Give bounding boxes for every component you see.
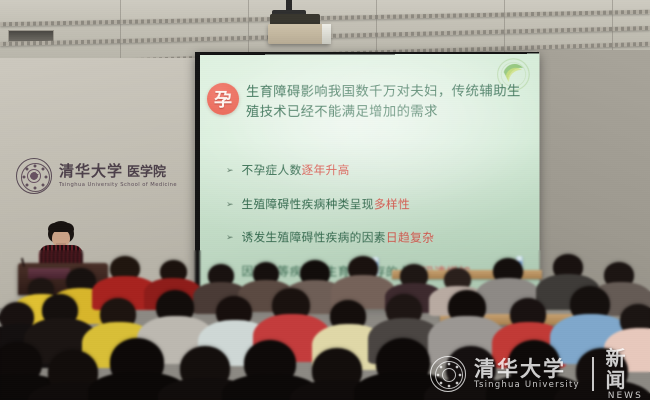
list-item: ➢ 不孕症人数逐年升高: [226, 163, 529, 178]
watermark-university: 清华大学 Tsinghua University: [474, 357, 580, 391]
projector-body: [268, 24, 330, 44]
news-watermark: 清华大学 Tsinghua University 新闻 NEWS: [430, 352, 645, 396]
watermark-divider: [592, 357, 594, 391]
watermark-news: 新闻 NEWS: [606, 347, 645, 400]
list-item: ➢ 生殖障碍性疾病种类呈现多样性: [226, 197, 529, 212]
pregnancy-badge-icon: 孕: [207, 83, 239, 115]
bullet-lead: 不孕症人数: [242, 163, 302, 177]
presenter-fringe: [48, 223, 74, 232]
watermark-en: Tsinghua University: [474, 380, 580, 391]
bullet-highlight: 逐年升高: [302, 163, 350, 177]
bullet-text: 不孕症人数逐年升高: [242, 163, 350, 178]
bullet-text: 生殖障碍性疾病种类呈现多样性: [242, 197, 410, 212]
list-item: ➢ 诱发生殖障碍性疾病的因素日趋复杂: [226, 230, 529, 246]
wall-logo-cn-dept: 医学院: [127, 165, 166, 180]
wall-logo-text: 清华大学医学院 Tsinghua University School of Me…: [59, 163, 177, 189]
bullet-lead: 生殖障碍性疾病种类呈现: [242, 197, 374, 211]
tsinghua-emblem-icon: ★: [16, 158, 52, 194]
slide-title-row: 孕 生育障碍影响我国数千万对夫妇，传统辅助生殖技术已经不能满足增加的需求: [207, 82, 528, 123]
emblem-ticks: [17, 159, 53, 195]
bullet-arrow-icon: ➢: [226, 167, 234, 176]
bullet-arrow-icon: ➢: [226, 234, 234, 243]
lecture-hall-photo: ★ 清华大学医学院 Tsinghua University School of …: [0, 0, 650, 400]
slide-title: 生育障碍影响我国数千万对夫妇，传统辅助生殖技术已经不能满足增加的需求: [246, 82, 521, 123]
projector-lens: [322, 24, 331, 44]
bullet-text: 诱发生殖障碍性疾病的因素日趋复杂: [242, 230, 435, 245]
watermark-news-cn: 新闻: [606, 347, 645, 391]
ceiling-grid-line: [120, 0, 121, 62]
watermark-emblem-ticks: [431, 357, 467, 393]
wall-logo-cn-main: 清华大学: [59, 162, 123, 180]
bullet-highlight: 日趋复杂: [386, 230, 434, 244]
emblem-star-icon: ★: [32, 173, 39, 180]
tsinghua-emblem-watermark-icon: [430, 356, 466, 392]
wall-tsinghua-logo: ★ 清华大学医学院 Tsinghua University School of …: [16, 157, 192, 195]
watermark-news-en: NEWS: [608, 391, 643, 400]
bullet-arrow-icon: ➢: [226, 201, 234, 210]
wall-logo-cn: 清华大学医学院: [59, 163, 177, 181]
wall-logo-en: Tsinghua University School of Medicine: [59, 182, 177, 189]
bullet-highlight: 多样性: [374, 197, 410, 211]
watermark-cn: 清华大学: [474, 357, 580, 380]
bullet-lead: 诱发生殖障碍性疾病的因素: [242, 230, 386, 244]
